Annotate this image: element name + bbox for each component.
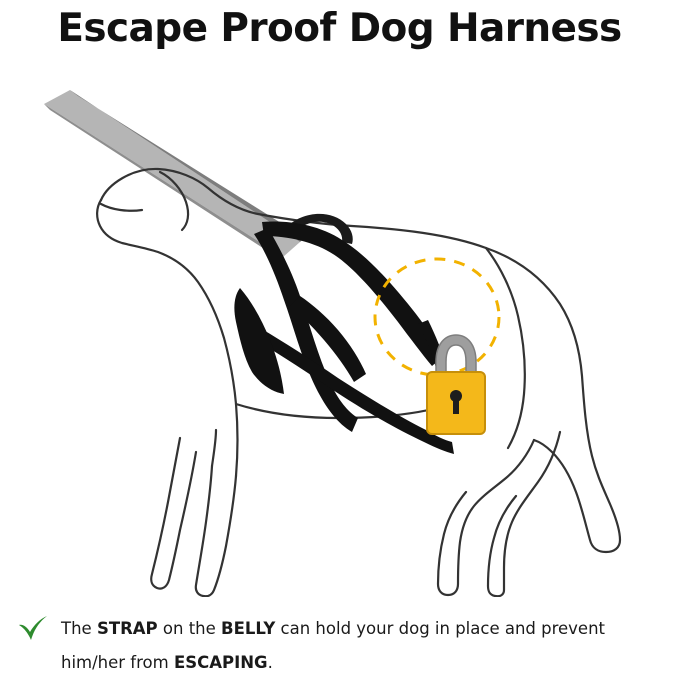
caption-part-1: The bbox=[61, 619, 97, 638]
green-check-icon bbox=[18, 616, 48, 642]
caption-part-2: on the bbox=[158, 619, 221, 638]
caption-text: The STRAP on the BELLY can hold your dog… bbox=[61, 612, 668, 680]
dog-harness-illustration bbox=[0, 52, 679, 597]
page-root: Escape Proof Dog Harness bbox=[0, 0, 679, 691]
black-harness-straps bbox=[234, 214, 454, 454]
page-title: Escape Proof Dog Harness bbox=[0, 6, 679, 52]
dog-body-outline bbox=[97, 169, 620, 596]
caption-bold-belly: BELLY bbox=[221, 619, 275, 638]
caption-bold-escaping: ESCAPING bbox=[174, 653, 268, 672]
caption-block: The STRAP on the BELLY can hold your dog… bbox=[18, 612, 668, 680]
caption-bold-strap: STRAP bbox=[97, 619, 158, 638]
caption-part-4: . bbox=[268, 653, 273, 672]
